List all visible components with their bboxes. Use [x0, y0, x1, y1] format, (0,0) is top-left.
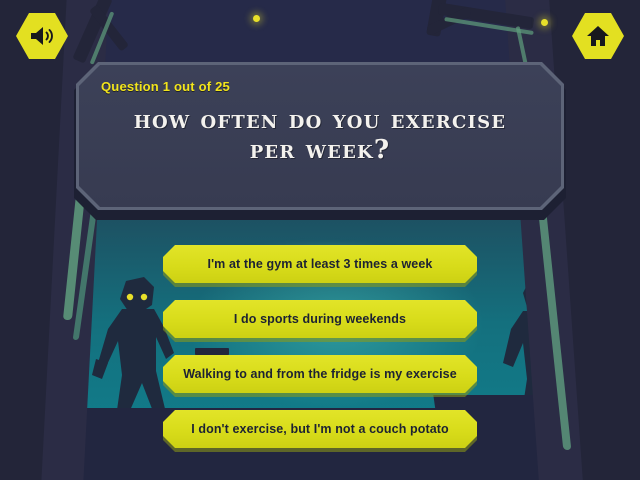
- button-gap-notch: [195, 348, 229, 355]
- firefly-2: [541, 19, 548, 26]
- home-button[interactable]: [572, 12, 624, 60]
- question-counter: Question 1 out of 25: [101, 79, 230, 94]
- sound-button[interactable]: [16, 12, 68, 60]
- answer-button-2-label: I do sports during weekends: [163, 300, 477, 338]
- answer-button-3[interactable]: Walking to and from the fridge is my exe…: [163, 355, 477, 393]
- question-text: How often do you exercise per week?: [79, 105, 561, 165]
- quiz-screen: Question 1 out of 25 How often do you ex…: [0, 0, 640, 480]
- answer-list: I'm at the gym at least 3 times a week I…: [163, 245, 477, 465]
- answer-button-3-label: Walking to and from the fridge is my exe…: [163, 355, 477, 393]
- home-house-icon: [572, 12, 624, 60]
- answer-button-1-label: I'm at the gym at least 3 times a week: [163, 245, 477, 283]
- firefly-1: [253, 15, 260, 22]
- answer-button-2[interactable]: I do sports during weekends: [163, 300, 477, 338]
- answer-button-1[interactable]: I'm at the gym at least 3 times a week: [163, 245, 477, 283]
- question-panel: Question 1 out of 25 How often do you ex…: [74, 62, 566, 214]
- sound-speaker-icon: [16, 12, 68, 60]
- question-panel-face: Question 1 out of 25 How often do you ex…: [79, 65, 561, 207]
- answer-button-4[interactable]: I don't exercise, but I'm not a couch po…: [163, 410, 477, 448]
- answer-button-4-label: I don't exercise, but I'm not a couch po…: [163, 410, 477, 448]
